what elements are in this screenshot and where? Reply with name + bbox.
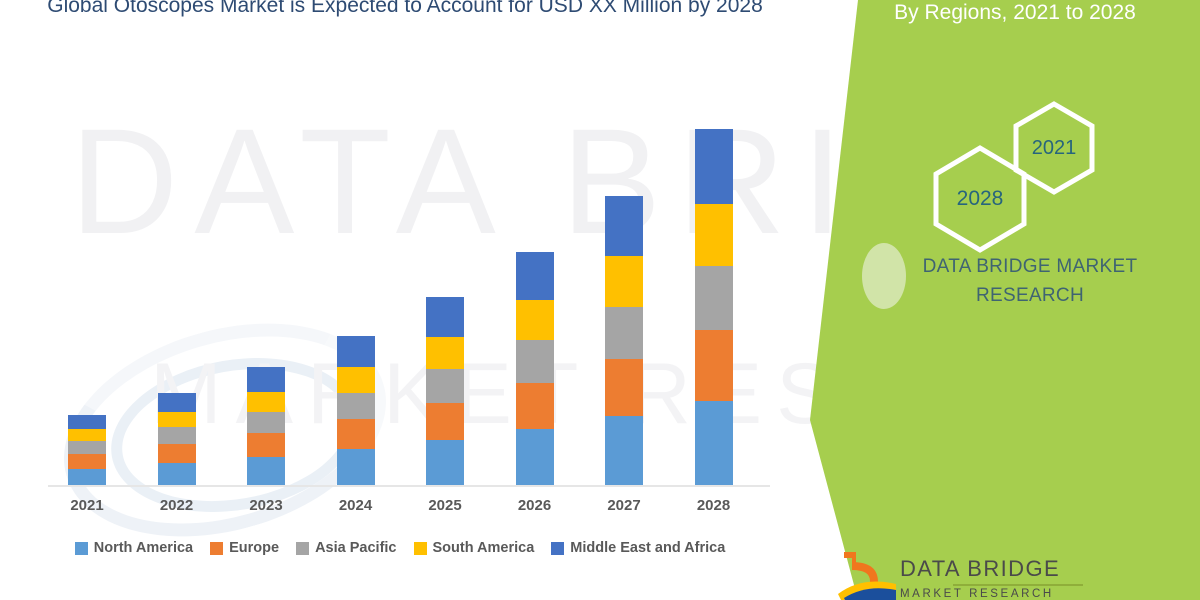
bar-segment-2023-4[interactable] bbox=[247, 392, 285, 412]
panel-brand-line-1: DATA BRIDGE MARKET bbox=[880, 252, 1180, 281]
legend-label: Middle East and Africa bbox=[570, 540, 725, 556]
hexagon-badge-2028-label: 2028 bbox=[957, 187, 1004, 211]
legend-swatch-icon bbox=[551, 542, 564, 555]
hexagon-badge-2021-label: 2021 bbox=[1032, 137, 1077, 160]
bar-segment-2028-1[interactable] bbox=[695, 401, 733, 485]
bar-2025[interactable] bbox=[426, 297, 464, 485]
panel-brand: DATA BRIDGE MARKET RESEARCH bbox=[880, 252, 1180, 310]
bar-segment-2021-1[interactable] bbox=[68, 469, 106, 485]
bar-segment-2026-2[interactable] bbox=[516, 383, 554, 430]
bar-segment-2028-2[interactable] bbox=[695, 330, 733, 400]
x-axis-label-2025: 2025 bbox=[405, 497, 485, 514]
panel-title: By Regions, 2021 to 2028 bbox=[845, 0, 1185, 28]
bar-segment-2024-4[interactable] bbox=[337, 367, 375, 393]
legend-item-europe[interactable]: Europe bbox=[210, 540, 279, 556]
bar-2028[interactable] bbox=[695, 129, 733, 485]
bar-segment-2028-5[interactable] bbox=[695, 129, 733, 204]
bar-segment-2022-5[interactable] bbox=[158, 393, 196, 412]
bar-segment-2022-1[interactable] bbox=[158, 463, 196, 485]
legend-swatch-icon bbox=[210, 542, 223, 555]
legend-label: North America bbox=[94, 540, 193, 556]
chart-legend: North AmericaEuropeAsia PacificSouth Ame… bbox=[0, 540, 800, 556]
bar-segment-2028-3[interactable] bbox=[695, 266, 733, 330]
logo-name: DATA BRIDGE bbox=[900, 556, 1060, 582]
bar-segment-2026-5[interactable] bbox=[516, 252, 554, 300]
bar-segment-2021-4[interactable] bbox=[68, 429, 106, 441]
bar-segment-2024-1[interactable] bbox=[337, 449, 375, 485]
bar-segment-2023-5[interactable] bbox=[247, 367, 285, 392]
bar-2022[interactable] bbox=[158, 393, 196, 485]
bar-segment-2025-5[interactable] bbox=[426, 297, 464, 336]
chart-infographic: DATA BRIDGE MARKET RESEARCH Global Otosc… bbox=[0, 0, 1200, 600]
bar-segment-2026-1[interactable] bbox=[516, 429, 554, 485]
logo-tagline: MARKET RESEARCH bbox=[900, 588, 1054, 600]
x-axis-label-2023: 2023 bbox=[226, 497, 306, 514]
bar-segment-2024-3[interactable] bbox=[337, 393, 375, 420]
legend-swatch-icon bbox=[296, 542, 309, 555]
bar-segment-2027-2[interactable] bbox=[605, 359, 643, 417]
x-axis-label-2027: 2027 bbox=[584, 497, 664, 514]
bar-segment-2027-3[interactable] bbox=[605, 307, 643, 359]
company-logo: DATA BRIDGE MARKET RESEARCH bbox=[838, 548, 1168, 600]
legend-item-north-america[interactable]: North America bbox=[75, 540, 193, 556]
chart-plot-area: Global Otoscopes Market is Expected to A… bbox=[0, 0, 800, 600]
bar-segment-2024-2[interactable] bbox=[337, 419, 375, 449]
chart-title: Global Otoscopes Market is Expected to A… bbox=[0, 0, 810, 21]
x-axis-label-2028: 2028 bbox=[674, 497, 754, 514]
bar-2021[interactable] bbox=[68, 415, 106, 485]
bar-segment-2028-4[interactable] bbox=[695, 204, 733, 266]
bar-segment-2024-5[interactable] bbox=[337, 336, 375, 367]
logo-divider bbox=[953, 584, 1083, 586]
bar-segment-2021-5[interactable] bbox=[68, 415, 106, 430]
legend-item-asia-pacific[interactable]: Asia Pacific bbox=[296, 540, 396, 556]
x-axis-label-2021: 2021 bbox=[47, 497, 127, 514]
x-axis-labels: 20212022202320242025202620272028 bbox=[0, 497, 800, 519]
legend-swatch-icon bbox=[75, 542, 88, 555]
bar-segment-2025-4[interactable] bbox=[426, 337, 464, 369]
bar-segment-2021-3[interactable] bbox=[68, 441, 106, 454]
bar-segment-2027-5[interactable] bbox=[605, 196, 643, 256]
legend-label: Europe bbox=[229, 540, 279, 556]
bar-segment-2025-2[interactable] bbox=[426, 403, 464, 441]
x-axis-label-2024: 2024 bbox=[316, 497, 396, 514]
panel-brand-line-2: RESEARCH bbox=[880, 281, 1180, 310]
bar-segment-2025-1[interactable] bbox=[426, 440, 464, 485]
legend-item-south-america[interactable]: South America bbox=[414, 540, 535, 556]
bar-segment-2022-2[interactable] bbox=[158, 444, 196, 463]
bar-segment-2023-3[interactable] bbox=[247, 412, 285, 433]
x-axis-label-2026: 2026 bbox=[495, 497, 575, 514]
bar-segment-2021-2[interactable] bbox=[68, 454, 106, 469]
databridge-b-icon bbox=[838, 548, 898, 600]
legend-label: Asia Pacific bbox=[315, 540, 396, 556]
bar-segment-2022-3[interactable] bbox=[158, 427, 196, 443]
legend-item-middle-east-and-africa[interactable]: Middle East and Africa bbox=[551, 540, 725, 556]
bar-segment-2026-4[interactable] bbox=[516, 300, 554, 340]
bar-2024[interactable] bbox=[337, 336, 375, 485]
bar-2026[interactable] bbox=[516, 252, 554, 485]
bar-segment-2026-3[interactable] bbox=[516, 340, 554, 382]
bar-2027[interactable] bbox=[605, 196, 643, 485]
legend-label: South America bbox=[433, 540, 535, 556]
bar-segment-2025-3[interactable] bbox=[426, 369, 464, 403]
legend-swatch-icon bbox=[414, 542, 427, 555]
bar-segment-2023-1[interactable] bbox=[247, 457, 285, 485]
x-axis-label-2022: 2022 bbox=[137, 497, 217, 514]
bar-segment-2027-1[interactable] bbox=[605, 416, 643, 485]
x-axis-line bbox=[48, 485, 770, 487]
bar-segment-2023-2[interactable] bbox=[247, 433, 285, 457]
bar-2023[interactable] bbox=[247, 367, 285, 485]
bar-segment-2027-4[interactable] bbox=[605, 256, 643, 306]
hexagon-badge-2021: 2021 bbox=[1010, 100, 1098, 196]
bar-segment-2022-4[interactable] bbox=[158, 412, 196, 428]
